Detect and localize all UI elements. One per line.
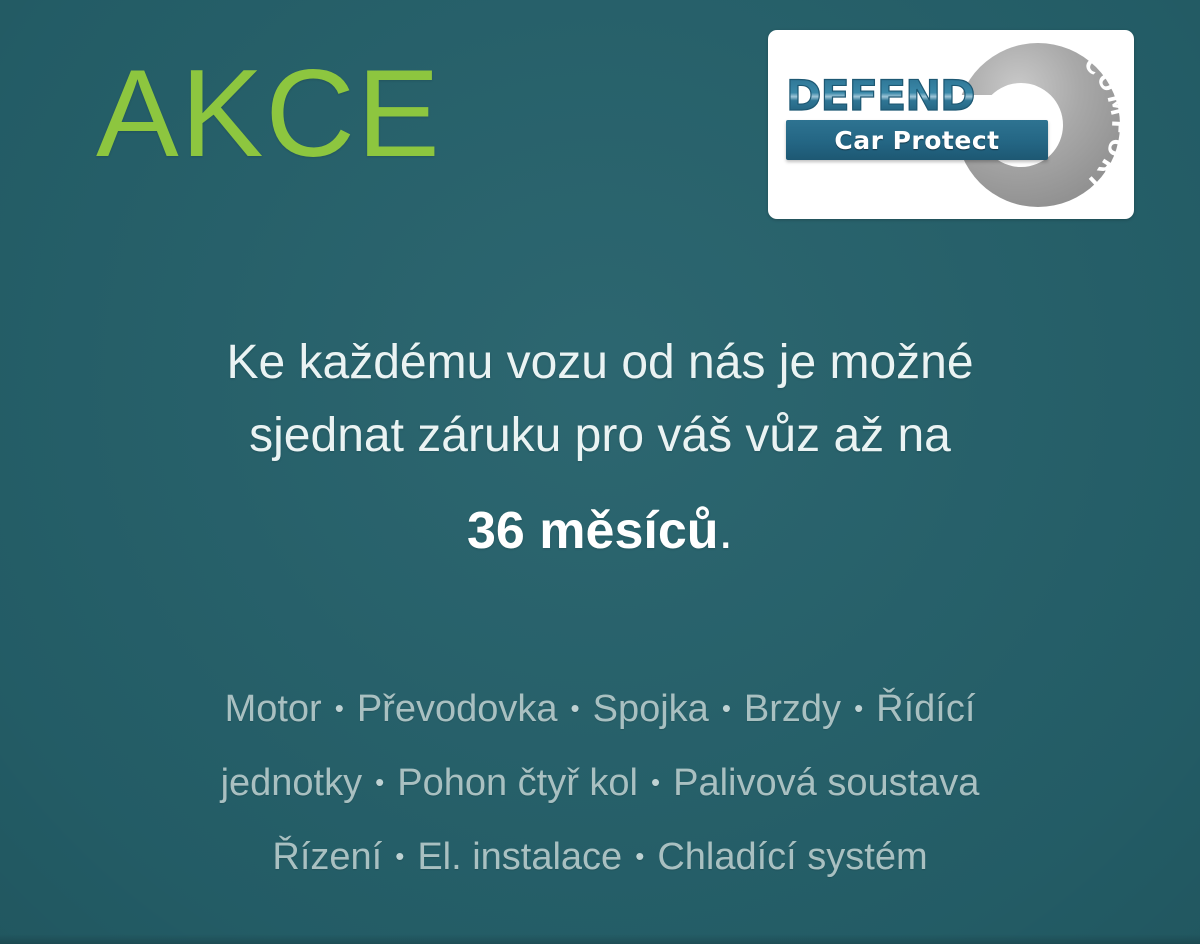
offer-line-2: sjednat záruku pro váš vůz až na <box>0 399 1200 472</box>
defend-car-protect-logo: COMFORT DEFEND <box>768 30 1134 219</box>
svg-text:DEFEND: DEFEND <box>786 74 975 118</box>
coverage-separator: • <box>651 757 660 808</box>
coverage-item: Řídící <box>876 688 975 730</box>
coverage-item: Palivová soustava <box>673 762 979 804</box>
coverage-row: Řízení•El. instalace•Chladící systém <box>60 820 1140 894</box>
offer-duration: 36 měsíců. <box>0 496 1200 566</box>
offer-line-1: Ke každému vozu od nás je možné <box>0 326 1200 399</box>
page-title: AKCE <box>96 52 442 176</box>
offer-headline: Ke každému vozu od nás je možné sjednat … <box>0 326 1200 473</box>
car-protect-banner: Car Protect <box>786 120 1048 160</box>
coverage-separator: • <box>571 683 580 734</box>
coverage-item: Pohon čtyř kol <box>397 762 638 804</box>
offer-duration-punctuation: . <box>719 502 733 560</box>
coverage-item: jednotky <box>221 762 363 804</box>
car-protect-label: Car Protect <box>786 120 1048 160</box>
coverage-separator: • <box>854 683 863 734</box>
coverage-item: Spojka <box>593 688 709 730</box>
coverage-separator: • <box>395 831 404 882</box>
coverage-item: Motor <box>225 688 322 730</box>
coverage-separator: • <box>335 683 344 734</box>
coverage-separator: • <box>375 757 384 808</box>
coverage-item: Chladící systém <box>657 836 927 878</box>
coverage-separator: • <box>722 683 731 734</box>
coverage-separator: • <box>635 831 644 882</box>
defend-wordmark: DEFEND <box>786 74 1048 118</box>
coverage-item: Řízení <box>272 836 382 878</box>
coverage-item: Brzdy <box>744 688 841 730</box>
promo-slide: AKCE <box>0 0 1200 944</box>
coverage-item: El. instalace <box>417 836 622 878</box>
coverage-row: Motor•Převodovka•Spojka•Brzdy•Řídící <box>60 672 1140 746</box>
offer-duration-value: 36 měsíců <box>467 502 719 560</box>
coverage-list: Motor•Převodovka•Spojka•Brzdy•Řídící jed… <box>60 672 1140 894</box>
coverage-row: jednotky•Pohon čtyř kol•Palivová soustav… <box>60 746 1140 820</box>
coverage-item: Převodovka <box>357 688 558 730</box>
